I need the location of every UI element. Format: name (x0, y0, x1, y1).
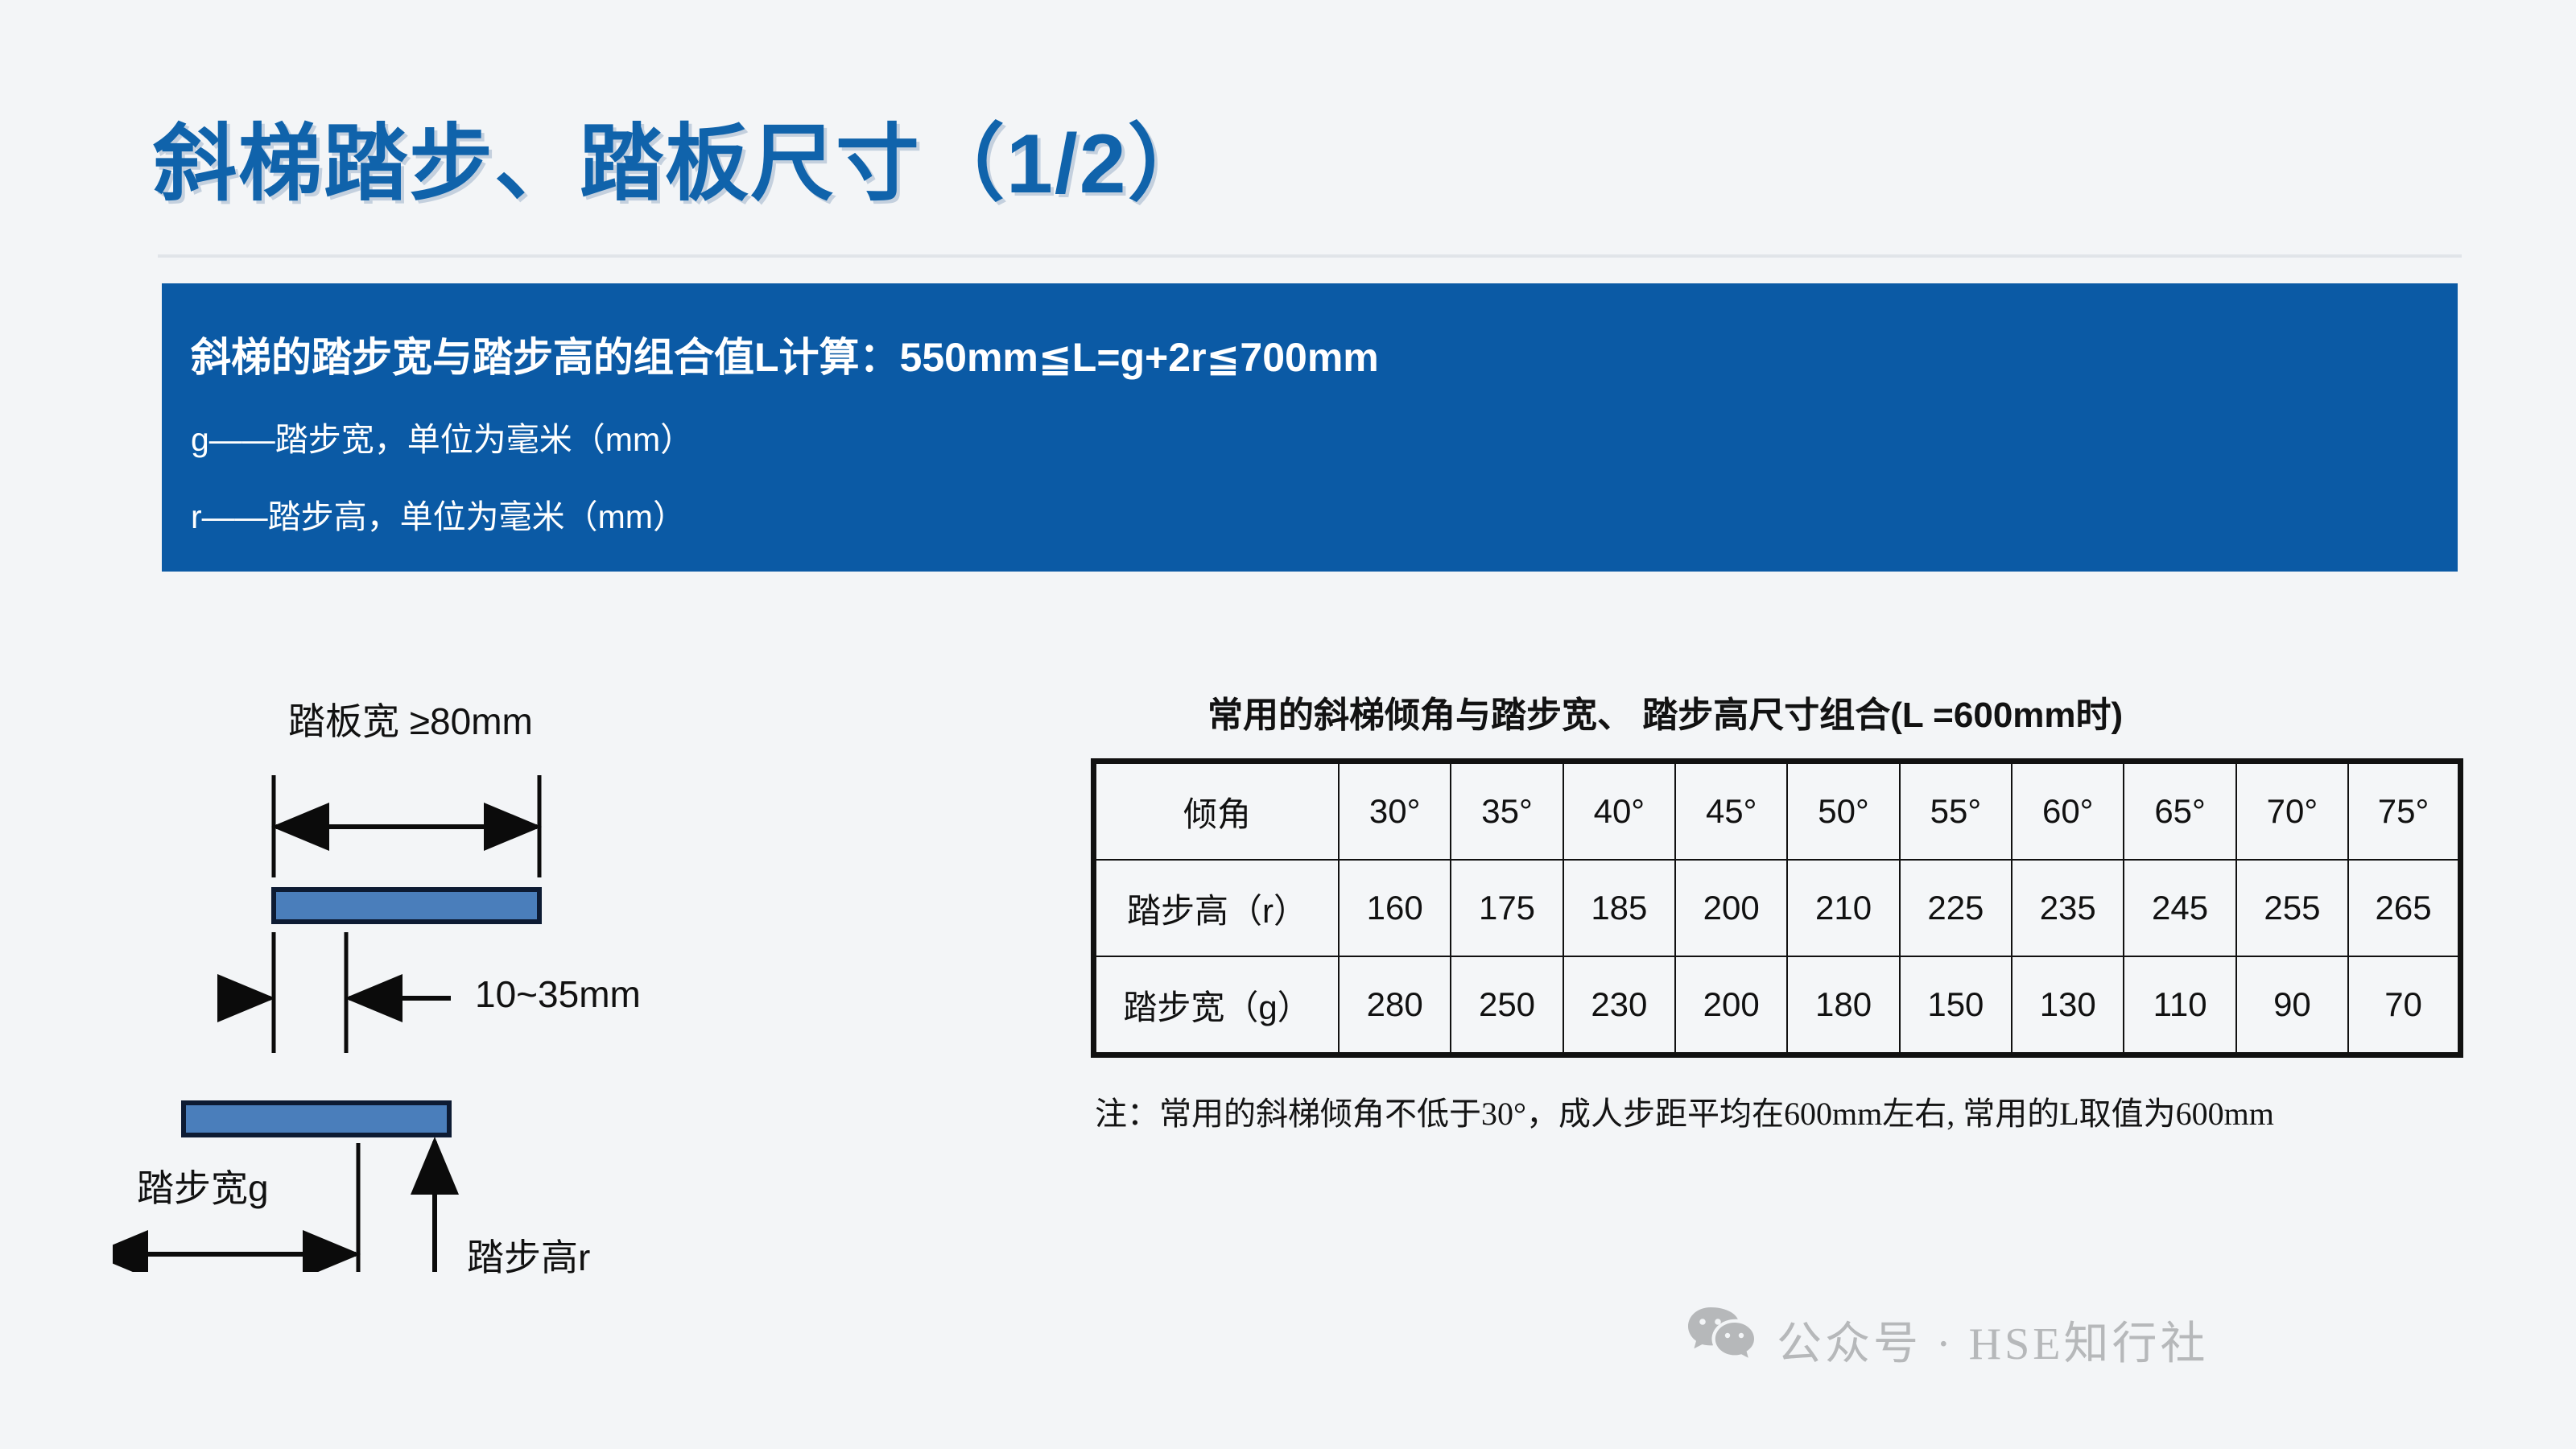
cell-rise-2: 185 (1563, 860, 1675, 956)
row-header-angle: 倾角 (1094, 762, 1340, 861)
row-header-rise: 踏步高（r） (1094, 860, 1340, 956)
cell-rise-4: 210 (1787, 860, 1899, 956)
label-tread-width: 踏板宽 ≥80mm (288, 692, 533, 745)
cell-rise-3: 200 (1675, 860, 1787, 956)
table-title: 常用的斜梯倾角与踏步宽、 踏步高尺寸组合(L =600mm时) (1207, 686, 2123, 737)
page-title: 斜梯踏步、踏板尺寸（1/2） (153, 95, 1213, 217)
formula-banner: 斜梯的踏步宽与踏步高的组合值L计算：550mm≦L=g+2r≦700mm g——… (162, 283, 2458, 572)
table-row-rise: 踏步高（r） 160 175 185 200 210 225 235 245 2… (1094, 860, 2461, 956)
cell-going-1: 250 (1451, 956, 1563, 1055)
stair-angle-table: 倾角 30° 35° 40° 45° 50° 55° 60° 65° 70° 7… (1091, 758, 2463, 1058)
cell-angle-4: 50° (1787, 762, 1899, 861)
formula-text: 斜梯的踏步宽与踏步高的组合值L计算：550mm≦L=g+2r≦700mm (191, 325, 2458, 383)
cell-rise-9: 265 (2348, 860, 2460, 956)
table-row-going: 踏步宽（g） 280 250 230 200 180 150 130 110 9… (1094, 956, 2461, 1055)
table-note: 注：常用的斜梯倾角不低于30°，成人步距平均在600mm左右, 常用的L取值为6… (1095, 1093, 2463, 1134)
cell-angle-8: 70° (2236, 762, 2348, 861)
cell-rise-5: 225 (1900, 860, 2012, 956)
cell-going-2: 230 (1563, 956, 1675, 1055)
stair-dimension-diagram: 踏板宽 ≥80mm 10~35mm 踏步宽g 踏步高r (113, 676, 1046, 1272)
label-going: 踏步宽g (137, 1159, 269, 1212)
cell-angle-3: 45° (1675, 762, 1787, 861)
cell-angle-7: 65° (2124, 762, 2235, 861)
cell-angle-9: 75° (2348, 762, 2460, 861)
table-row-angle: 倾角 30° 35° 40° 45° 50° 55° 60° 65° 70° 7… (1094, 762, 2461, 861)
cell-going-7: 110 (2124, 956, 2235, 1055)
cell-going-6: 130 (2012, 956, 2124, 1055)
cell-going-8: 90 (2236, 956, 2348, 1055)
cell-rise-8: 255 (2236, 860, 2348, 956)
wechat-icon (1686, 1306, 1756, 1373)
row-header-going: 踏步宽（g） (1094, 956, 1340, 1055)
cell-rise-0: 160 (1339, 860, 1451, 956)
cell-angle-6: 60° (2012, 762, 2124, 861)
watermark: 公众号 · HSE知行社 (1686, 1306, 2208, 1373)
cell-angle-1: 35° (1451, 762, 1563, 861)
cell-angle-2: 40° (1563, 762, 1675, 861)
cell-going-4: 180 (1787, 956, 1899, 1055)
label-rise: 踏步高r (467, 1228, 590, 1282)
cell-rise-7: 245 (2124, 860, 2235, 956)
label-nosing-gap: 10~35mm (475, 972, 641, 1016)
cell-rise-6: 235 (2012, 860, 2124, 956)
title-divider (158, 254, 2462, 258)
cell-going-9: 70 (2348, 956, 2460, 1055)
legend-line-r: r——踏步高，单位为毫米（mm） (191, 489, 2458, 538)
cell-rise-1: 175 (1451, 860, 1563, 956)
legend-line-g: g——踏步宽，单位为毫米（mm） (191, 412, 2458, 460)
cell-going-5: 150 (1900, 956, 2012, 1055)
watermark-text: 公众号 · HSE知行社 (1777, 1307, 2208, 1373)
step-plate-top (274, 890, 539, 922)
cell-angle-0: 30° (1339, 762, 1451, 861)
cell-going-3: 200 (1675, 956, 1787, 1055)
cell-angle-5: 55° (1900, 762, 2012, 861)
step-plate-middle (184, 1103, 449, 1135)
cell-going-0: 280 (1339, 956, 1451, 1055)
